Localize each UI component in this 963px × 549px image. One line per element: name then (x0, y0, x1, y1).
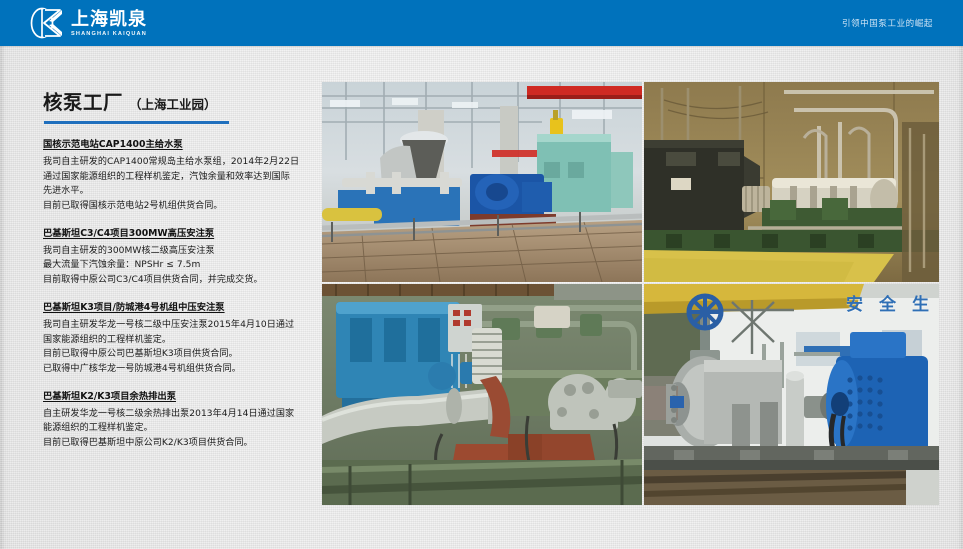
section-line: 我司自主研发华龙一号核二级中压安注泵2015年4月10日通过 (43, 318, 311, 333)
section-heading: 巴基斯坦K3项目/防城港4号机组中压安注泵 (43, 301, 311, 315)
section-line: 目前已取得中原公司巴基斯坦K3项目供货合同。 (43, 347, 311, 362)
section-heading: 巴基斯坦C3/C4项目300MW高压安注泵 (43, 227, 311, 241)
section-line: 已取得中广核华龙一号防城港4号机组供货合同。 (43, 362, 311, 377)
section-heading: 巴基斯坦K2/K3项目余热排出泵 (43, 390, 311, 404)
section-line: 能源组织的工程样机鉴定。 (43, 421, 311, 436)
section-line: 目前已取得国核示范电站2号机组供货合同。 (43, 199, 311, 214)
section-line: 目前已取得巴基斯坦中原公司K2/K3项目供货合同。 (43, 436, 311, 451)
page-title-main: 核泵工厂 (43, 86, 123, 115)
section-line: 最大流量下汽蚀余量：NPSHr ≤ 7.5m (43, 258, 311, 273)
section-block: 巴基斯坦K2/K3项目余热排出泵 自主研发华龙一号核二级余热排出泵2013年4月… (43, 390, 311, 451)
section-block: 巴基斯坦K3项目/防城港4号机组中压安注泵 我司自主研发华龙一号核二级中压安注泵… (43, 301, 311, 377)
section-line: 通过国家能源组织的工程样机鉴定，汽蚀余量和效率达到国际 (43, 170, 311, 185)
section-line: 我司自主研发的300MW核二级高压安注泵 (43, 244, 311, 259)
section-line: 先进水平。 (43, 184, 311, 199)
brand-name-en: SHANGHAI KAIQUAN (71, 32, 147, 38)
section-line: 目前取得中原公司C3/C4项目供货合同，并完成交货。 (43, 273, 311, 288)
text-column: 核泵工厂 （上海工业园） 国核示范电站CAP1400主给水泵 我司自主研发的CA… (43, 86, 311, 451)
photo-residual-heat-removal-pump[interactable]: 安 全 生 (644, 284, 939, 505)
title-underline-rule (44, 121, 229, 124)
page-header: 上海凯泉 SHANGHAI KAIQUAN 引领中国泵工业的崛起 (0, 0, 963, 46)
section-block: 巴基斯坦C3/C4项目300MW高压安注泵 我司自主研发的300MW核二级高压安… (43, 227, 311, 288)
page-title-sub: （上海工业园） (129, 94, 217, 113)
photo-blue-motor-pump-skid[interactable] (322, 284, 642, 505)
brand-name-cn: 上海凯泉 (71, 11, 147, 29)
brand-wordmark: 上海凯泉 SHANGHAI KAIQUAN (71, 9, 147, 38)
photo-test-bench-multistage-pump[interactable] (644, 82, 939, 282)
slide-content: 核泵工厂 （上海工业园） 国核示范电站CAP1400主给水泵 我司自主研发的CA… (0, 46, 963, 549)
photo-assembly-hall-feedwater-pump[interactable] (322, 82, 642, 282)
header-slogan: 引领中国泵工业的崛起 (842, 0, 933, 46)
slide-root: 上海凯泉 SHANGHAI KAIQUAN 引领中国泵工业的崛起 核泵工厂 （上… (0, 0, 963, 549)
section-line: 我司自主研发的CAP1400常规岛主给水泵组，2014年2月22日 (43, 155, 311, 170)
brand-logo[interactable]: 上海凯泉 SHANGHAI KAIQUAN (27, 6, 147, 40)
section-line: 国家能源组织的工程样机鉴定。 (43, 333, 311, 348)
photo-grid: 安 全 生 (322, 82, 939, 505)
section-heading: 国核示范电站CAP1400主给水泵 (43, 138, 311, 152)
section-line: 自主研发华龙一号核二级余热排出泵2013年4月14日通过国家 (43, 407, 311, 422)
kaiquan-k-logo-icon (27, 6, 64, 40)
section-block: 国核示范电站CAP1400主给水泵 我司自主研发的CAP1400常规岛主给水泵组… (43, 138, 311, 214)
page-title: 核泵工厂 （上海工业园） (43, 86, 311, 115)
